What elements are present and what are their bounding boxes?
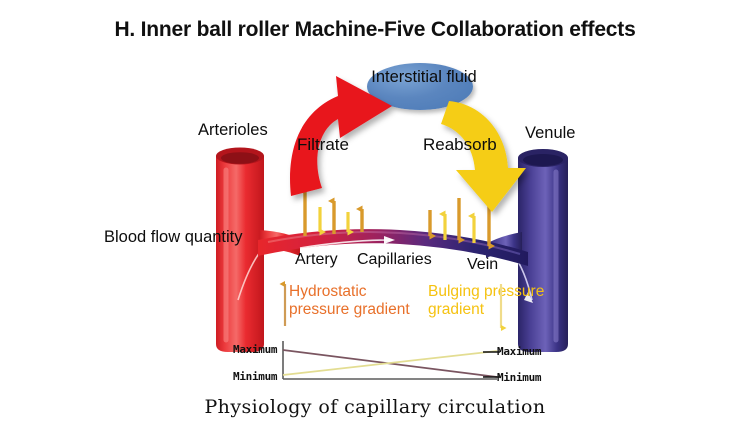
figure-caption: Physiology of capillary circulation (0, 396, 750, 418)
diagram-canvas: H. Inner ball roller Machine-Five Collab… (0, 0, 750, 429)
chart-right-label-maximum: Maximum (497, 345, 541, 358)
pressure-gradient-chart (0, 0, 750, 429)
chart-left-label-minimum: Minimum (233, 370, 277, 383)
chart-left-label-maximum: Maximum (233, 343, 277, 356)
chart-right-label-minimum: Minimum (497, 371, 541, 384)
